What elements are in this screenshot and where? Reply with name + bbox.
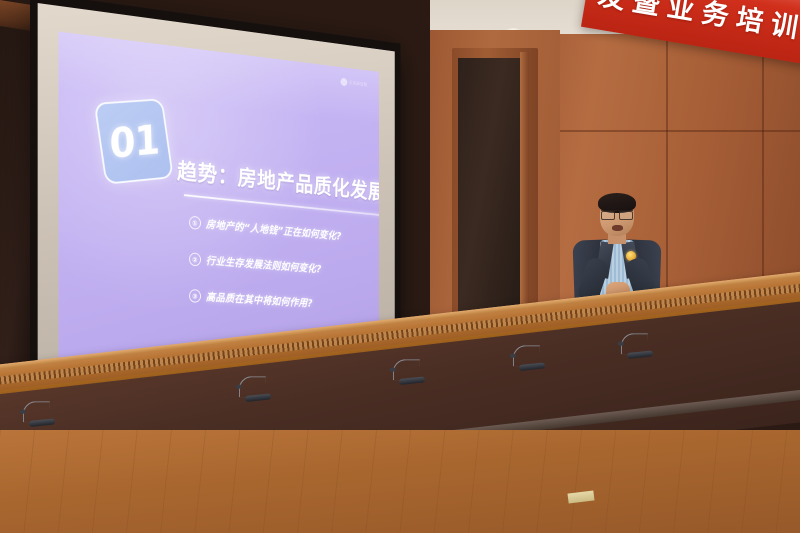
slide-logo: 贝壳研究院 [340, 78, 367, 89]
slide-logo-wordmark: 贝壳研究院 [349, 80, 367, 87]
mouth [612, 225, 623, 231]
glasses-icon [601, 210, 633, 218]
bullet-marker: ② [189, 252, 201, 266]
wooden-floor [0, 430, 800, 533]
slide-bullet-list: ① 房地产的“人地钱”正在如何变化? ② 行业生存发展法则如何变化? ③ 高品质… [189, 219, 379, 332]
company-logo-icon [340, 78, 347, 87]
bullet-text: 行业生存发展法则如何变化? [206, 253, 322, 276]
gooseneck-microphone [511, 342, 548, 371]
bullet-text: 高品质在其中将如何作用? [206, 289, 313, 310]
gooseneck-microphone [619, 330, 656, 359]
list-item: ① 房地产的“人地钱”正在如何变化? [189, 215, 379, 250]
bullet-marker: ③ [189, 289, 201, 303]
bullet-marker: ① [189, 216, 201, 230]
section-number-text: 01 [109, 115, 160, 167]
gooseneck-microphone [391, 356, 428, 385]
bullet-text: 房地产的“人地钱”正在如何变化? [206, 216, 342, 243]
conference-room-photo: 发暨业务培训会 贝壳研究院 01 趋势：房地产品质化发展时代的到来 ① 房 [0, 0, 800, 533]
list-item: ② 行业生存发展法则如何变化? [189, 251, 379, 282]
list-item: ③ 高品质在其中将如何作用? [189, 288, 379, 316]
gooseneck-microphone [21, 398, 58, 427]
section-number-badge: 01 [94, 98, 174, 185]
gooseneck-microphone [237, 373, 274, 402]
